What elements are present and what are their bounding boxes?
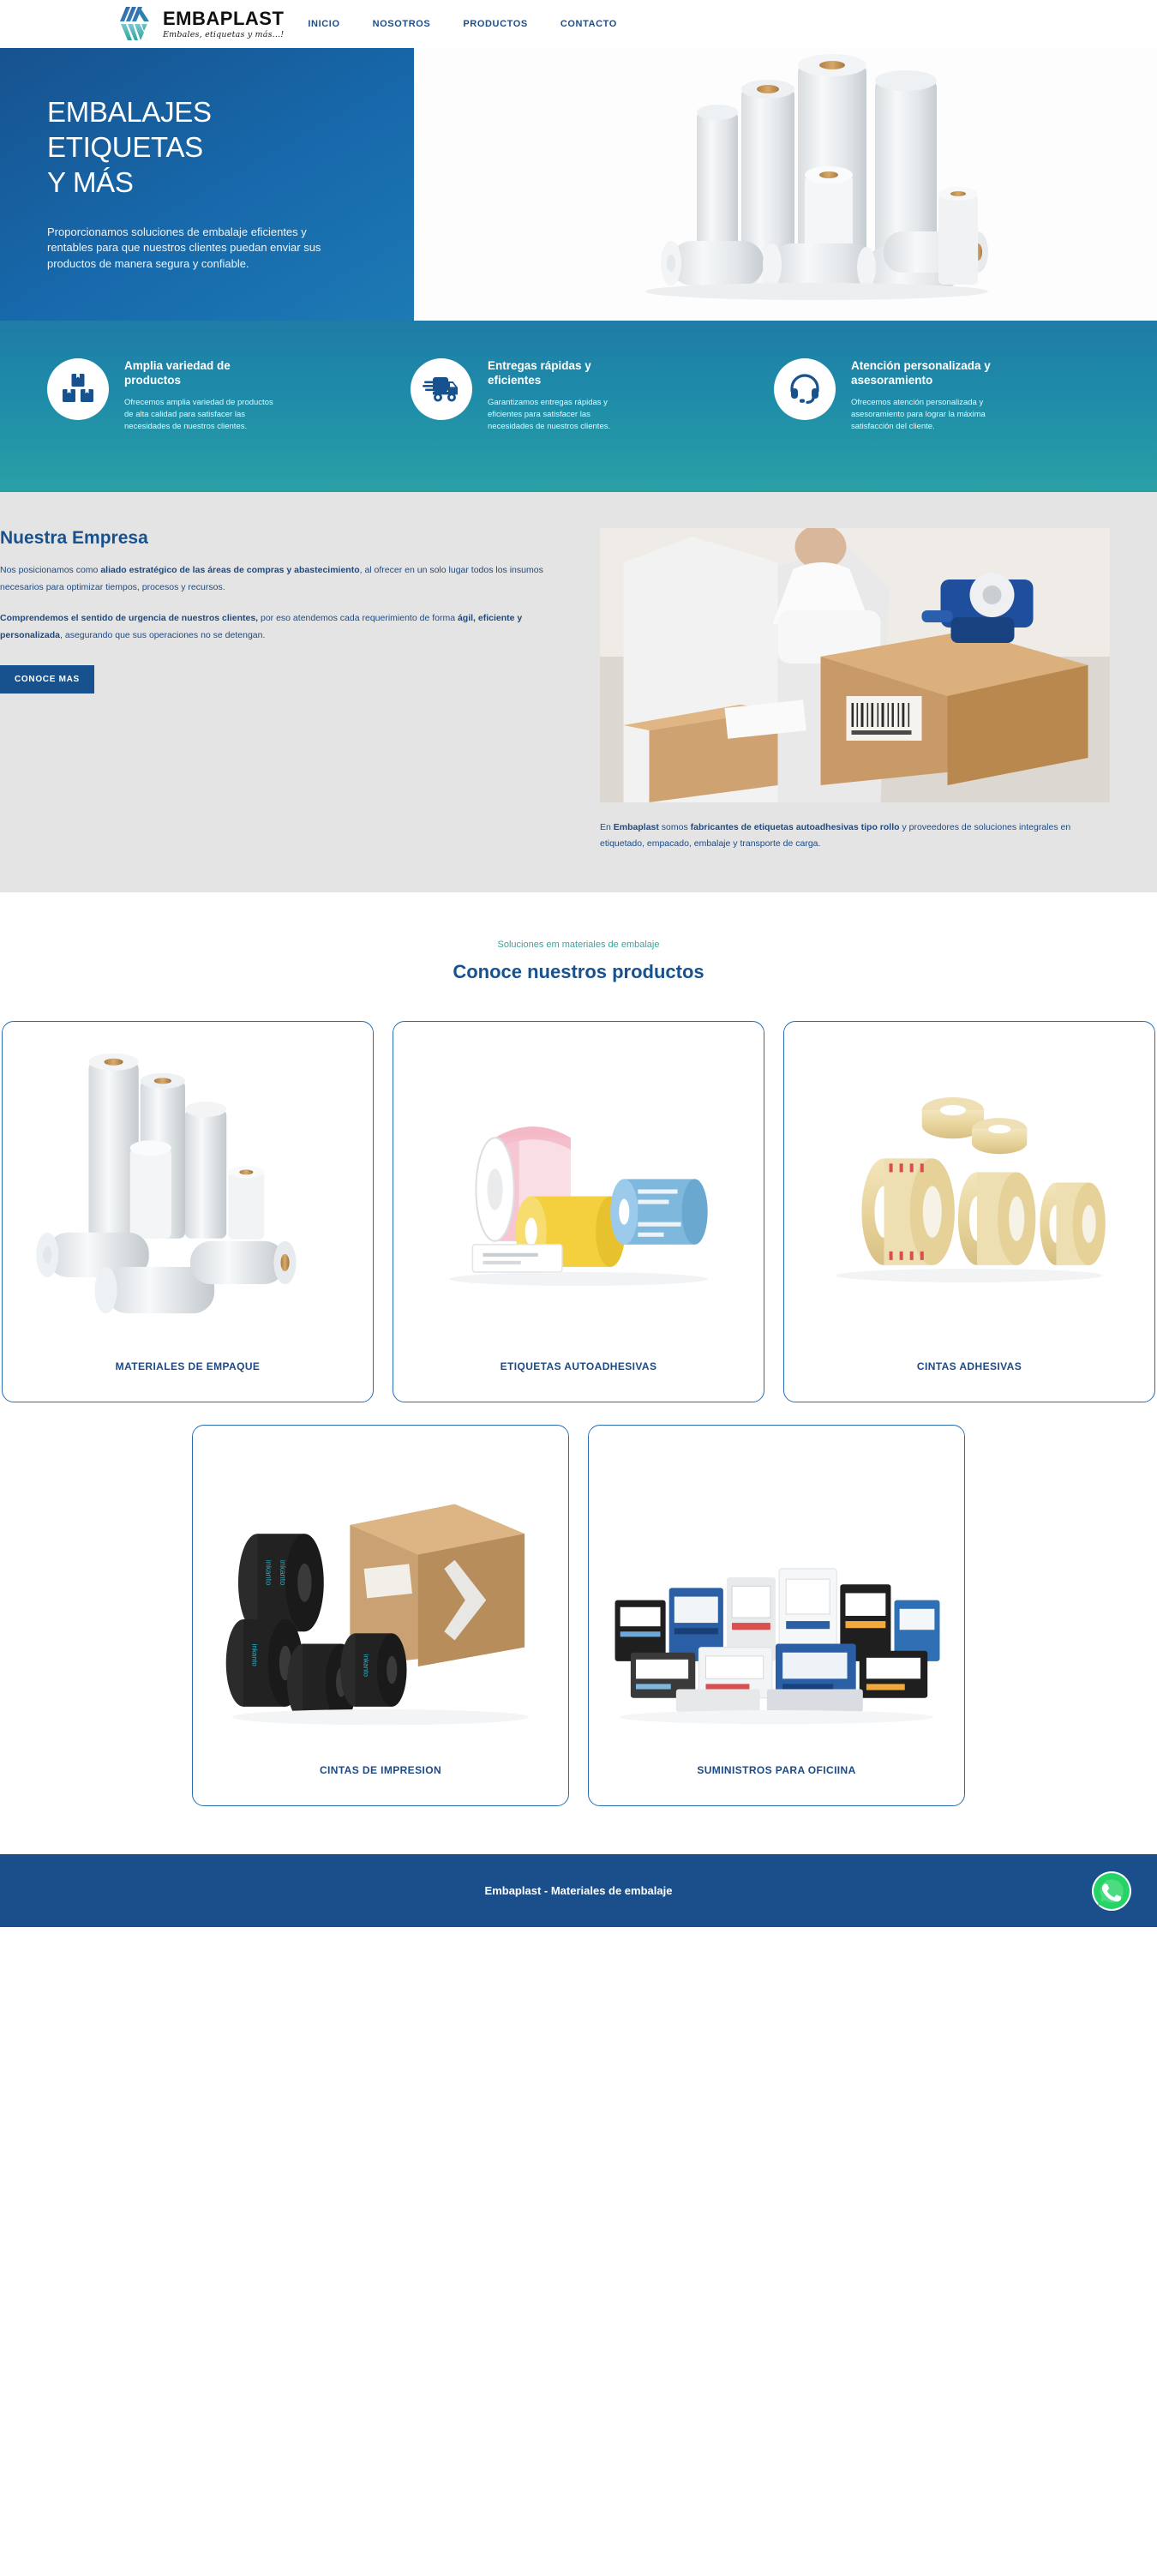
hero-section: EMBALAJES ETIQUETAS Y MÁS Proporcionamos… — [0, 48, 1157, 321]
nav-item-inicio[interactable]: INICIO — [308, 19, 339, 29]
product-image — [3, 1022, 373, 1360]
feature-item-entregas: Entregas rápidas y eficientes Garantizam… — [411, 357, 746, 432]
office-supplies-image-icon — [589, 1426, 964, 1764]
empresa-p1-bold: aliado estratégico de las áreas de compr… — [100, 565, 359, 575]
product-label: SUMINISTROS PARA OFICIINA — [697, 1764, 855, 1805]
label-rolls-image-icon — [393, 1022, 764, 1360]
product-label: CINTAS DE IMPRESION — [320, 1764, 441, 1805]
product-card-suministros-para-oficina[interactable]: SUMINISTROS PARA OFICIINA — [588, 1425, 965, 1806]
feature-title: Atención personalizada y asesoramiento — [851, 358, 1005, 387]
empresa-p2-post: , asegurando que sus operaciones no se d… — [60, 630, 265, 640]
feature-item-productos: Amplia variedad de productos Ofrecemos a… — [47, 357, 383, 432]
empresa-media-column: En Embaplast somos fabricantes de etique… — [600, 528, 1110, 851]
nav-item-contacto[interactable]: CONTACTO — [561, 19, 617, 29]
whatsapp-icon — [1090, 1870, 1133, 1912]
whatsapp-float-button[interactable] — [1089, 1869, 1134, 1913]
productos-row-2: inkanto inkanto inkanto — [0, 1425, 1157, 1806]
empresa-paragraph-1: Nos posicionamos como aliado estratégico… — [0, 562, 549, 596]
feature-icon-wrapper — [411, 358, 472, 420]
empresa-cap-bold-2: fabricantes de etiquetas autoadhesivas t… — [691, 822, 900, 832]
productos-title: Conoce nuestros productos — [0, 961, 1157, 983]
stretch-film-rolls-image-icon — [3, 1022, 373, 1360]
product-image — [784, 1022, 1154, 1360]
feature-item-atencion: Atención personalizada y asesoramiento O… — [774, 357, 1110, 432]
productos-section: Soluciones em materiales de embalaje Con… — [0, 892, 1157, 1854]
svg-text:inkanto: inkanto — [279, 1560, 287, 1586]
empresa-text-column: Nuestra Empresa Nos posicionamos como al… — [0, 528, 600, 851]
svg-text:inkanto: inkanto — [250, 1644, 258, 1667]
boxes-icon — [61, 373, 95, 405]
product-label: CINTAS ADHESIVAS — [917, 1360, 1022, 1402]
empresa-cap-mid: somos — [659, 822, 691, 832]
brand-logo[interactable]: EMBAPLAST Embales, etiquetas y más...! — [111, 4, 284, 44]
footer-text: Embaplast - Materiales de embalaje — [485, 1884, 673, 1897]
thermal-transfer-ribbons-image-icon: inkanto inkanto inkanto — [193, 1426, 568, 1764]
hero-title: EMBALAJES ETIQUETAS Y MÁS — [47, 95, 375, 201]
svg-text:inkanto: inkanto — [363, 1654, 370, 1678]
product-label: ETIQUETAS AUTOADHESIVAS — [501, 1360, 657, 1402]
empresa-cap-pre: En — [600, 822, 614, 832]
product-card-cintas-de-impresion[interactable]: inkanto inkanto inkanto — [192, 1425, 569, 1806]
product-card-cintas-adhesivas[interactable]: CINTAS ADHESIVAS — [783, 1021, 1155, 1402]
product-label: MATERIALES DE EMPAQUE — [116, 1360, 261, 1402]
feature-description: Ofrecemos amplia variedad de productos d… — [124, 397, 274, 432]
hero-title-line-3: Y MÁS — [47, 166, 134, 198]
hero-title-line-2: ETIQUETAS — [47, 131, 203, 163]
adhesive-tape-rolls-image-icon — [784, 1022, 1154, 1360]
empresa-p2-bold-1: Comprendemos el sentido de urgencia de n… — [0, 613, 258, 623]
feature-description: Ofrecemos atención personalizada y aseso… — [851, 397, 1001, 432]
hero-title-line-1: EMBALAJES — [47, 96, 212, 128]
delivery-truck-icon — [423, 374, 460, 405]
site-footer: Embaplast - Materiales de embalaje — [0, 1854, 1157, 1927]
feature-description: Garantizamos entregas rápidas y eficient… — [488, 397, 638, 432]
site-header: EMBAPLAST Embales, etiquetas y más...! I… — [0, 0, 1157, 48]
stretch-film-rolls-icon — [414, 48, 1157, 321]
empresa-p1-pre: Nos posicionamos como — [0, 565, 100, 575]
hero-image — [414, 48, 1157, 321]
empresa-caption: En Embaplast somos fabricantes de etique… — [600, 820, 1110, 851]
worker-taping-box-icon — [600, 528, 1110, 802]
nav-item-nosotros[interactable]: NOSOTROS — [373, 19, 431, 29]
svg-text:inkanto: inkanto — [265, 1560, 273, 1586]
product-image — [393, 1022, 764, 1360]
feature-title: Entregas rápidas y eficientes — [488, 358, 642, 387]
nav-item-productos[interactable]: PRODUCTOS — [463, 19, 527, 29]
feature-title: Amplia variedad de productos — [124, 358, 279, 387]
product-card-etiquetas-autoadhesivas[interactable]: ETIQUETAS AUTOADHESIVAS — [393, 1021, 764, 1402]
brand-name: EMBAPLAST — [163, 9, 284, 28]
hero-subtitle: Proporcionamos soluciones de embalaje ef… — [47, 225, 321, 272]
hero-text-panel: EMBALAJES ETIQUETAS Y MÁS Proporcionamos… — [0, 48, 414, 321]
product-image — [589, 1426, 964, 1764]
empresa-cap-bold-1: Embaplast — [614, 822, 659, 832]
empresa-p2-mid: por eso atendemos cada requerimiento de … — [258, 613, 458, 623]
product-card-materiales-de-empaque[interactable]: MATERIALES DE EMPAQUE — [2, 1021, 374, 1402]
brand-tagline: Embales, etiquetas y más...! — [163, 31, 284, 39]
empresa-heading: Nuestra Empresa — [0, 528, 600, 549]
empresa-section: Nuestra Empresa Nos posicionamos como al… — [0, 492, 1157, 892]
empresa-photo — [600, 528, 1110, 802]
feature-icon-wrapper — [774, 358, 836, 420]
main-navigation: INICIO NOSOTROS PRODUCTOS CONTACTO — [308, 19, 617, 29]
feature-icon-wrapper — [47, 358, 109, 420]
productos-eyebrow: Soluciones em materiales de embalaje — [0, 940, 1157, 950]
productos-row-1: MATERIALES DE EMPAQUE — [0, 1021, 1157, 1402]
headset-icon — [788, 372, 822, 406]
conoce-mas-button[interactable]: CONOCE MAS — [0, 665, 94, 694]
features-section: Amplia variedad de productos Ofrecemos a… — [0, 321, 1157, 492]
product-image: inkanto inkanto inkanto — [193, 1426, 568, 1764]
empresa-paragraph-2: Comprendemos el sentido de urgencia de n… — [0, 610, 549, 644]
embaplast-logo-icon — [111, 4, 156, 44]
